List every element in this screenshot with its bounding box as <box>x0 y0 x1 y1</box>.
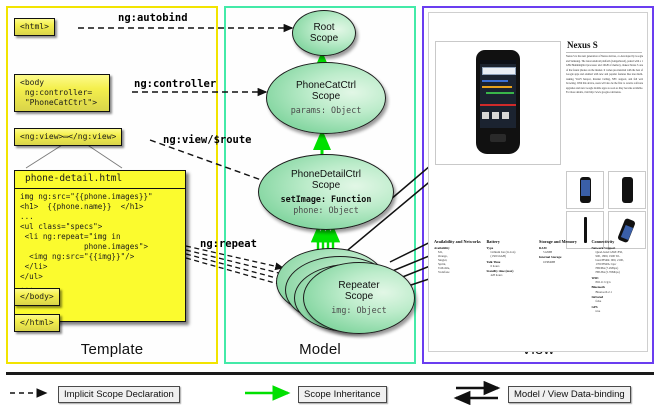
spec-heading-1: Battery <box>487 239 537 244</box>
phone-status-bar <box>480 60 516 64</box>
tag-body-open: <body ng:controller= "PhoneCatCtrl"> <box>14 74 110 112</box>
spec-table: Availability and Networks Availability M… <box>434 239 644 305</box>
legend-divider <box>6 372 654 375</box>
spec-val-0-6: Vodafone <box>434 270 484 274</box>
scope-phonecatctrl-line1: PhoneCatCtrl <box>296 80 356 91</box>
tag-html-open: <html> <box>14 18 55 36</box>
thumb-phone-1 <box>622 177 633 203</box>
scope-repeater-line2: Scope <box>345 291 373 302</box>
scope-phonedetailctrl-prop-0: setImage: Function <box>281 194 372 205</box>
spec-heading-2: Storage and Memory <box>539 239 589 244</box>
scope-repeater: Repeater Scope img: Object <box>303 262 415 334</box>
edge-label-view-route: ng:view/$route <box>163 134 252 146</box>
scope-phonecatctrl: PhoneCatCtrl Scope params: Object <box>266 62 386 134</box>
spec-val-1-1a: 6 hours <box>487 264 537 268</box>
legend-item-data-binding: Model / View Data-binding <box>508 386 631 403</box>
phone-wallpaper-stripe-blue <box>482 80 508 82</box>
edge-label-autobind: ng:autobind <box>118 12 188 24</box>
phone-wallpaper-stripe-orange <box>482 86 512 88</box>
tag-body-close: </body> <box>14 288 60 306</box>
thumbnail-1[interactable] <box>608 171 646 209</box>
phone-home-button <box>490 134 506 142</box>
spec-column-0: Availability and Networks Availability M… <box>434 239 487 305</box>
thumbnail-0[interactable] <box>566 171 604 209</box>
hero-image-frame <box>435 41 561 165</box>
scope-phonedetailctrl: PhoneDetailCtrl Scope setImage: Function… <box>258 154 394 230</box>
spec-val-2-1a: 16384MB <box>539 260 589 264</box>
phone-searchbar <box>482 67 516 75</box>
view-phone-title: Nexus S <box>567 40 598 50</box>
spec-val-3-1a: 802.11 b/g/n <box>592 280 642 284</box>
scope-repeater-line1: Repeater <box>338 280 379 291</box>
legend-item-scope-inheritance: Scope Inheritance <box>298 386 387 403</box>
tag-ngview: <ng:view>▭</ng:view> <box>14 128 122 146</box>
scope-phonedetailctrl-line1: PhoneDetailCtrl <box>291 169 361 180</box>
spec-column-1: Battery Type Lithium Ion (Li-Ion) (1500 … <box>487 239 540 305</box>
scope-phonedetailctrl-prop-1: phone: Object <box>293 205 359 216</box>
scope-root-line2: Scope <box>310 33 338 44</box>
legend-item-implicit-scope-declaration: Implicit Scope Declaration <box>58 386 180 403</box>
phone-wallpaper-stripe-red <box>480 104 516 106</box>
scope-repeater-prop-0: img: Object <box>331 305 386 316</box>
scope-phonedetailctrl-line2: Scope <box>312 180 340 191</box>
note-filename: phone-detail.html <box>14 170 186 188</box>
edge-label-repeat: ng:repeat <box>200 238 257 250</box>
view-rendered-page: Nexus S Nexus S is the next generation o… <box>428 12 648 352</box>
spec-column-3: Connectivity Network Support Quad-band G… <box>592 239 645 305</box>
phone-app-icon-2 <box>492 112 499 119</box>
spec-val-3-0f: HSUPA (5.76Mbps) <box>592 270 642 274</box>
spec-heading-0: Availability and Networks <box>434 239 484 244</box>
legend-double-arrow-icon <box>456 388 498 398</box>
phone-app-icon-1 <box>482 112 489 119</box>
spec-val-3-2a: Bluetooth 2.1 <box>592 290 642 294</box>
spec-val-3-3a: false <box>592 299 642 303</box>
spec-val-3-4a: true <box>592 309 642 313</box>
scope-phonecatctrl-line2: Scope <box>312 91 340 102</box>
edge-label-controller: ng:controller <box>134 78 216 90</box>
spec-val-1-2a: 428 hours <box>487 273 537 277</box>
angularjs-concepts-diagram: Template Model View <box>0 0 660 420</box>
spec-val-2-0a: 512MB <box>539 250 589 254</box>
column-label-template: Template <box>8 341 216 358</box>
phone-app-icon-3 <box>502 112 509 119</box>
scope-phonecatctrl-prop-0: params: Object <box>291 105 362 116</box>
phone-wallpaper-stripe-green <box>486 92 514 94</box>
spec-heading-3: Connectivity <box>592 239 642 244</box>
title-underline <box>566 52 642 53</box>
scope-root: Root Scope <box>292 10 356 56</box>
spec-val-1-0b: (1500 mAH) <box>487 254 537 258</box>
view-phone-description: Nexus S is the next generation of Nexus … <box>566 55 643 96</box>
tag-html-close: </html> <box>14 314 60 332</box>
thumb-screen-0 <box>581 180 590 196</box>
spec-column-2: Storage and Memory RAM 512MB Internal St… <box>539 239 592 305</box>
scope-root-line1: Root <box>313 22 334 33</box>
column-label-model: Model <box>226 341 414 358</box>
